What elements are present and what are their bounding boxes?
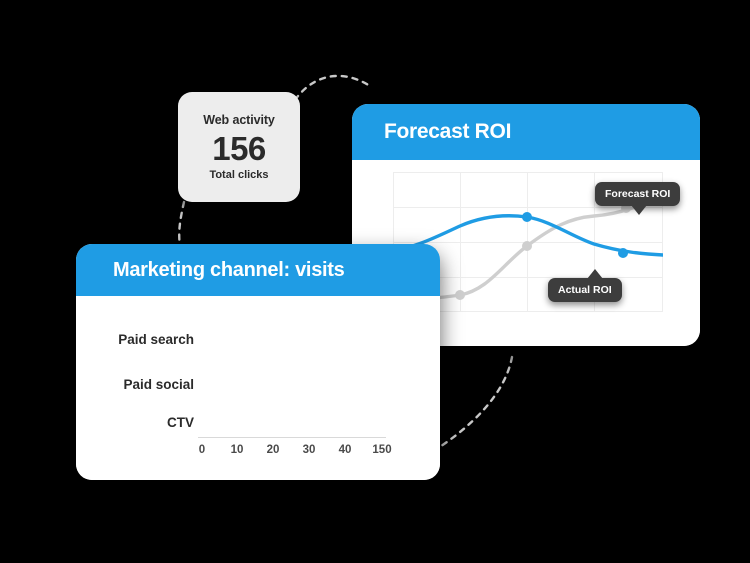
forecast-roi-title: Forecast ROI bbox=[384, 120, 511, 144]
bar-track bbox=[198, 414, 383, 436]
bar-chart-x-axis: 0 10 20 30 40 150 bbox=[198, 444, 386, 462]
bar-track bbox=[198, 376, 383, 398]
illustration-stage: Web activity 156 Total clicks Forecast R… bbox=[0, 0, 750, 563]
axis-tick-0: 0 bbox=[199, 444, 205, 456]
actual-roi-tooltip[interactable]: Actual ROI bbox=[548, 278, 622, 302]
web-activity-subtitle: Total clicks bbox=[209, 169, 268, 181]
axis-tick-40: 40 bbox=[339, 444, 352, 456]
axis-tick-10: 10 bbox=[231, 444, 244, 456]
actual-roi-tooltip-label: Actual ROI bbox=[558, 284, 612, 296]
web-activity-value: 156 bbox=[212, 132, 266, 167]
table-row[interactable]: Paid social bbox=[76, 376, 440, 398]
web-activity-card[interactable]: Web activity 156 Total clicks bbox=[178, 92, 300, 202]
axis-tick-20: 20 bbox=[267, 444, 280, 456]
forecast-roi-tooltip-label: Forecast ROI bbox=[605, 188, 670, 200]
marketing-channel-card[interactable]: Marketing channel: visits Paid search Pa… bbox=[76, 244, 440, 480]
web-activity-title: Web activity bbox=[203, 113, 275, 127]
tooltip-arrow-icon bbox=[587, 269, 603, 279]
forecast-roi-header: Forecast ROI bbox=[352, 104, 700, 160]
axis-tick-150: 150 bbox=[372, 444, 391, 456]
bar-label-paid-search: Paid search bbox=[118, 332, 194, 347]
bar-label-paid-social: Paid social bbox=[123, 377, 194, 392]
connector-kpi-to-forecast bbox=[295, 76, 370, 100]
connector-forecast-to-marketing bbox=[432, 357, 512, 452]
marketing-channel-header: Marketing channel: visits bbox=[76, 244, 440, 296]
bar-track bbox=[198, 331, 383, 353]
axis-tick-30: 30 bbox=[303, 444, 316, 456]
forecast-roi-tooltip[interactable]: Forecast ROI bbox=[595, 182, 680, 206]
marketing-channel-title: Marketing channel: visits bbox=[113, 259, 344, 282]
tooltip-arrow-icon bbox=[631, 205, 647, 215]
bar-label-ctv: CTV bbox=[167, 415, 194, 430]
bar-chart-axis-line bbox=[198, 437, 386, 438]
connector-kpi-to-marketing bbox=[179, 202, 184, 246]
marketing-channel-body: Paid search Paid social CTV 0 bbox=[76, 296, 440, 480]
table-row[interactable]: CTV bbox=[76, 414, 440, 436]
table-row[interactable]: Paid search bbox=[76, 331, 440, 353]
